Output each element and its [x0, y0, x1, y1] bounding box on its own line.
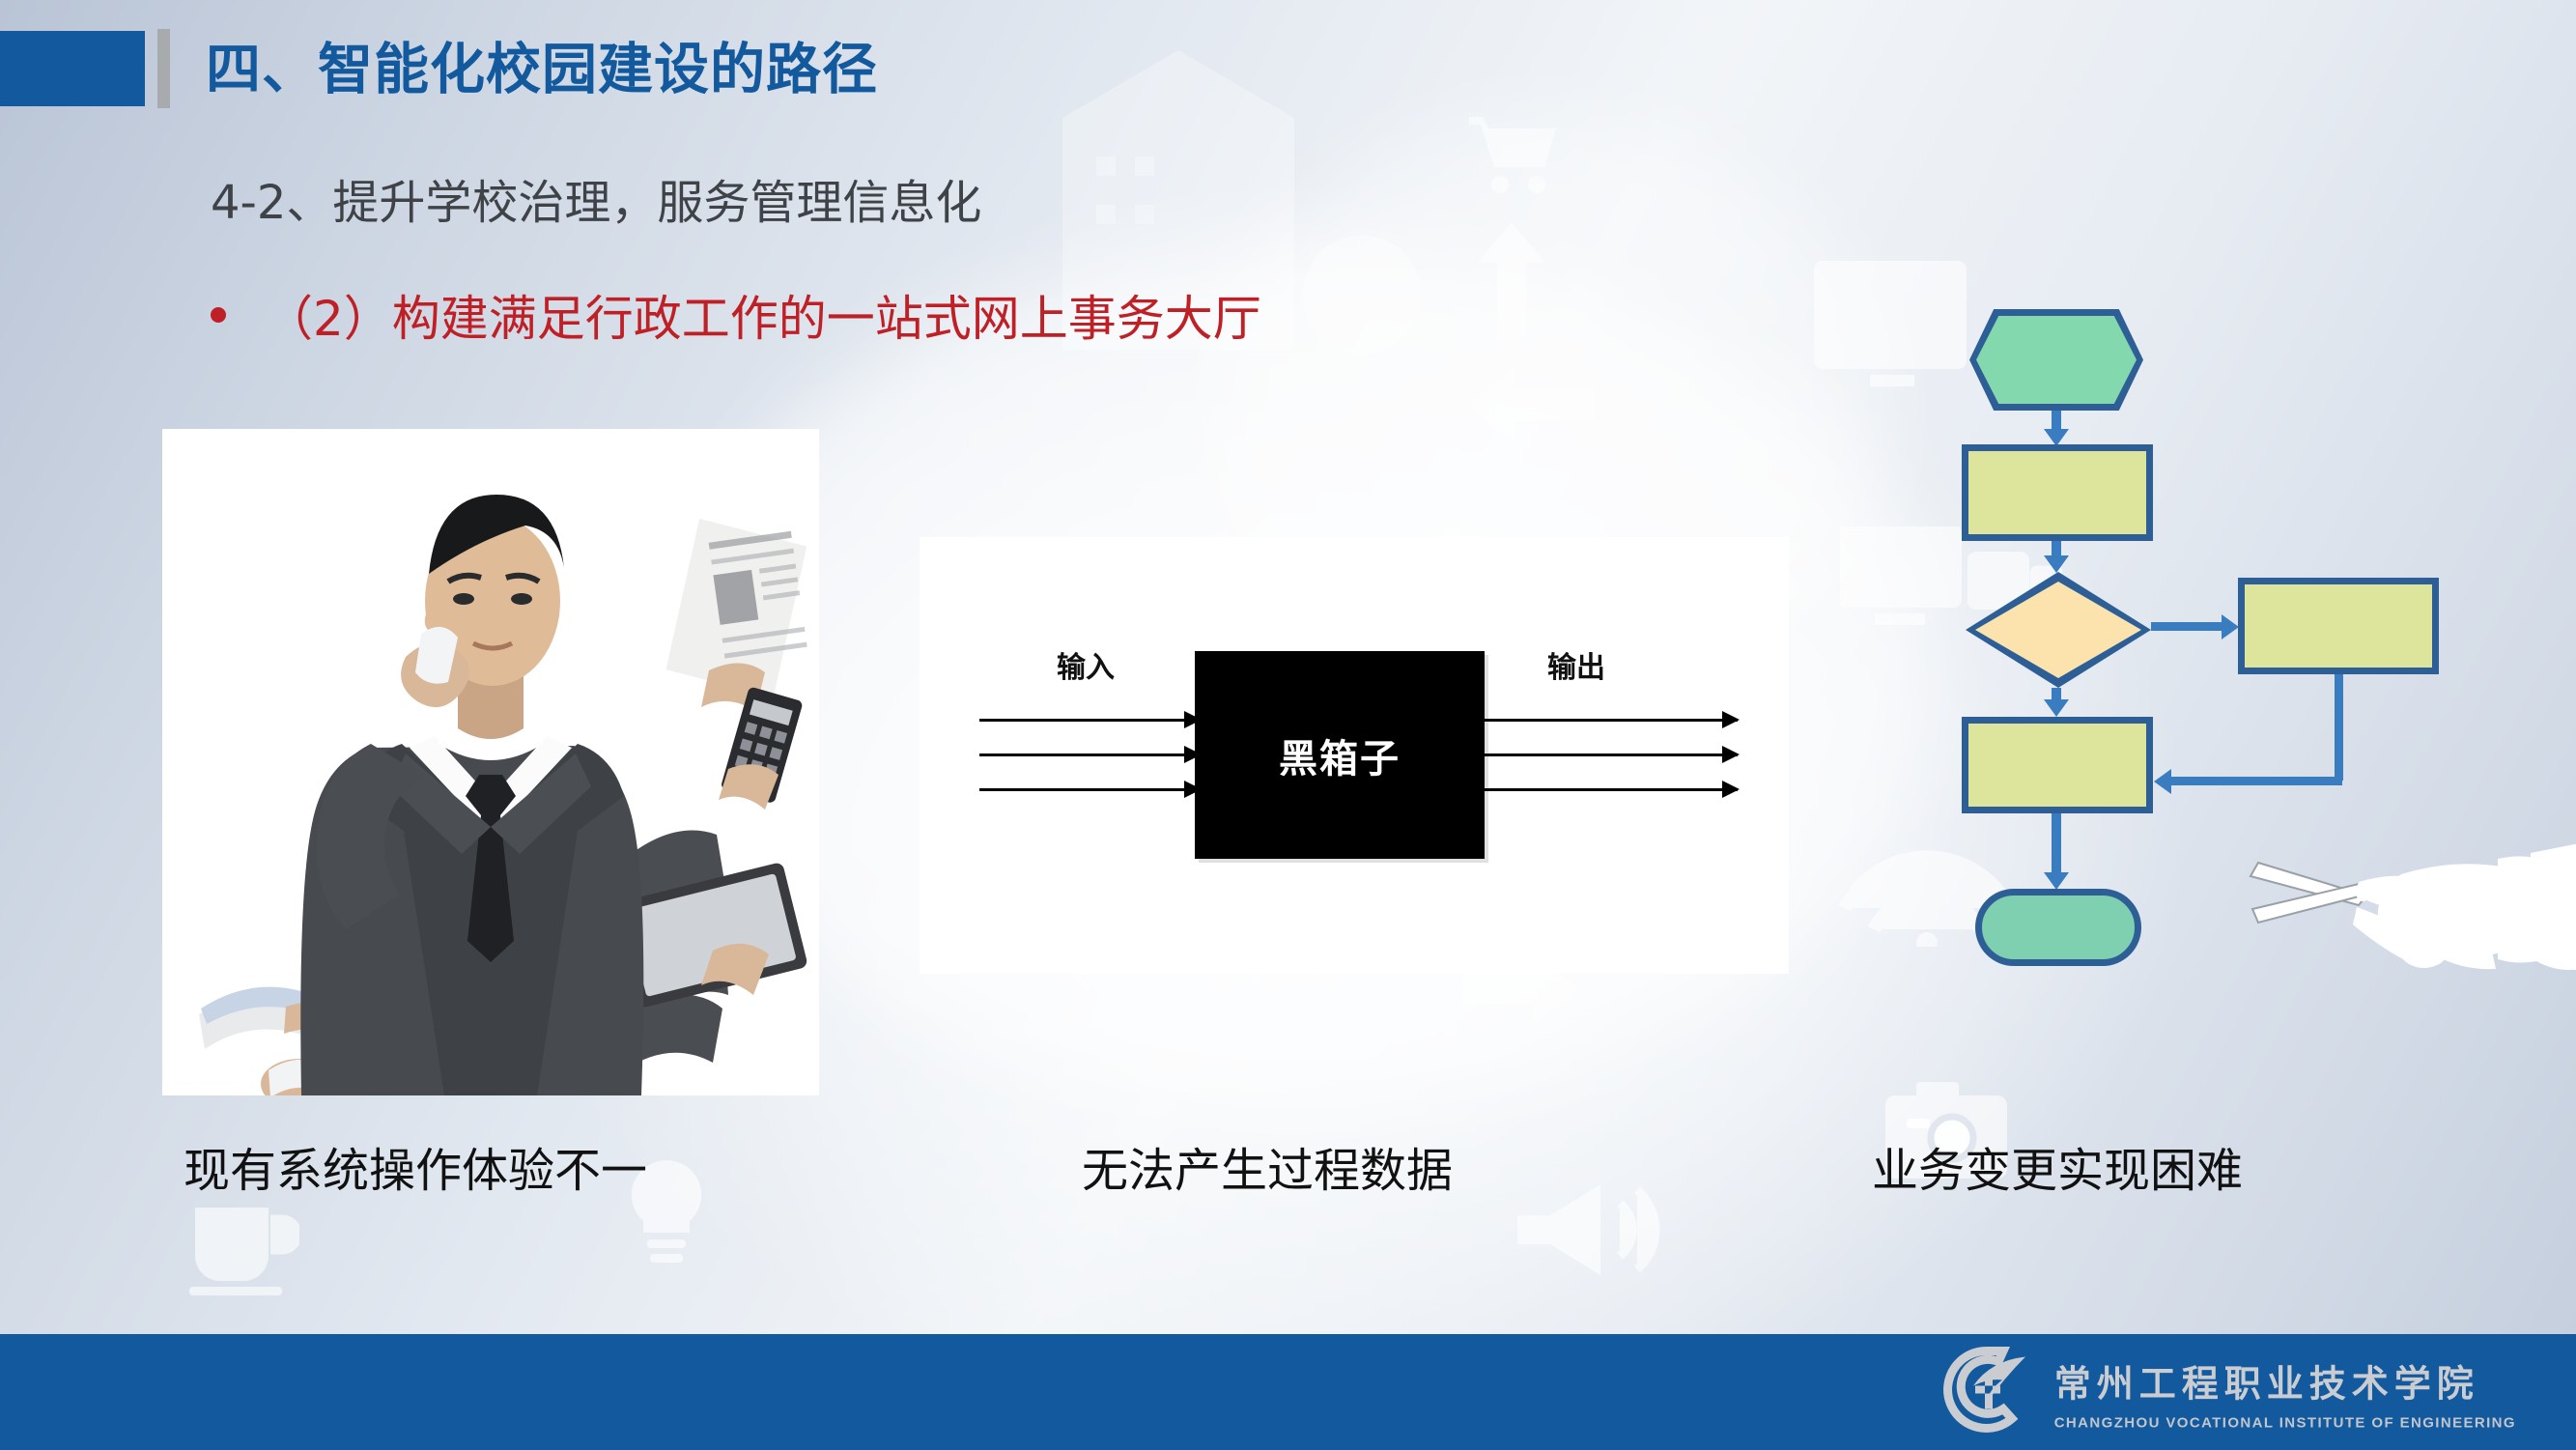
flow-branch-process: [2238, 578, 2439, 674]
output-arrow-1: [1485, 719, 1738, 722]
institution-name-en: CHANGZHOU VOCATIONAL INSTITUTE OF ENGINE…: [2054, 1414, 2516, 1431]
input-arrow-3: [979, 788, 1200, 791]
flow-connector-return-v: [2335, 674, 2343, 781]
flow-decision-diamond-fill: [1975, 582, 2141, 678]
shopping-cart-icon: [1463, 111, 1565, 198]
flow-connector-branch: [2151, 622, 2222, 631]
flow-connector-3: [2052, 688, 2061, 700]
bullet-text: （2）构建满足行政工作的一站式网上事务大厅: [265, 280, 1261, 350]
flow-connector-1: [2052, 411, 2061, 430]
flow-process-1: [1962, 444, 2153, 541]
flow-connector-2: [2052, 541, 2061, 556]
output-arrow-3: [1485, 788, 1738, 791]
multitasking-businessman-photo: [162, 429, 819, 1095]
title-accent-bar: [157, 29, 170, 108]
slide-subtitle: 4-2、提升学校治理，服务管理信息化: [211, 164, 981, 232]
bullet-dot-icon: [211, 307, 226, 323]
left-arrow-icon: [1468, 367, 1594, 442]
flow-process-2: [1962, 717, 2153, 813]
flow-connector-4: [2052, 813, 2061, 873]
globe-icon: [1299, 232, 1425, 357]
caption-photo: 现有系统操作体验不一: [184, 1132, 647, 1200]
up-arrow-icon: [1478, 222, 1545, 338]
caption-blackbox: 无法产生过程数据: [1082, 1132, 1453, 1200]
logo-text-column: 常州工程职业技术学院 CHANGZHOU VOCATIONAL INSTITUT…: [2054, 1353, 2516, 1431]
page-title: 四、智能化校园建设的路径: [206, 25, 878, 104]
footer-bar: 常州工程职业技术学院 CHANGZHOU VOCATIONAL INSTITUT…: [0, 1334, 2576, 1450]
presentation-slide: 四、智能化校园建设的路径 4-2、提升学校治理，服务管理信息化 （2）构建满足行…: [0, 0, 2576, 1450]
flow-end-terminal: [1975, 889, 2141, 966]
blackbox-output-label: 输出: [1547, 643, 1605, 686]
caption-flowchart: 业务变更实现困难: [1872, 1132, 2243, 1200]
title-row: 四、智能化校园建设的路径: [0, 17, 2576, 102]
flow-connector-return-h: [2170, 777, 2342, 785]
blackbox-shape: 黑箱子: [1195, 651, 1485, 859]
blackbox-diagram-panel: 输入 输出 黑箱子: [920, 537, 1789, 974]
flow-start-hexagon-fill: [1976, 316, 2137, 404]
photo-panel: [162, 429, 819, 1095]
title-accent-square: [0, 31, 145, 106]
output-arrow-2: [1485, 753, 1738, 756]
logo-mark-icon: [1940, 1344, 2033, 1441]
bullet-row: （2）构建满足行政工作的一站式网上事务大厅: [211, 280, 1261, 350]
blackbox-label: 黑箱子: [1279, 727, 1401, 783]
input-arrow-1: [979, 719, 1200, 722]
flowchart-panel: [1888, 309, 2545, 811]
input-arrow-2: [979, 753, 1200, 756]
coffee-cup-icon: [184, 1190, 299, 1296]
institution-name-cn: 常州工程职业技术学院: [2054, 1353, 2516, 1407]
blackbox-input-label: 输入: [1057, 643, 1115, 686]
institution-logo: 常州工程职业技术学院 CHANGZHOU VOCATIONAL INSTITUT…: [1940, 1344, 2516, 1441]
hand-with-scissors-icon: [2212, 816, 2576, 990]
megaphone-icon: [1512, 1177, 1676, 1283]
